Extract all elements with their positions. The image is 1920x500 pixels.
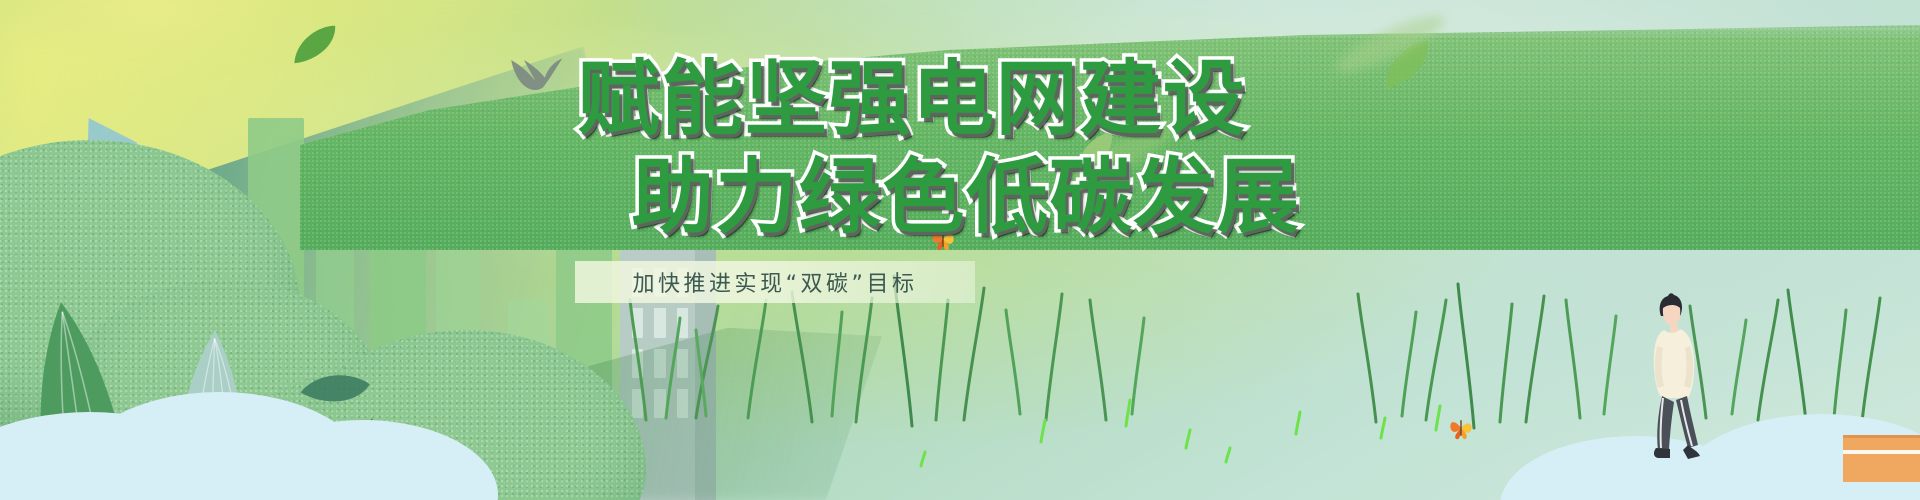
eco-banner: 赋能坚强电网建设 助力绿色低碳发展 加快推进实现“双碳”目标 bbox=[0, 0, 1920, 500]
orange-fence bbox=[1843, 435, 1920, 482]
walking-person bbox=[0, 0, 1920, 500]
orange-fence-stripe bbox=[1843, 450, 1920, 454]
walking-person-figure bbox=[1650, 290, 1704, 460]
subtitle: 加快推进实现“双碳”目标 bbox=[575, 262, 975, 302]
